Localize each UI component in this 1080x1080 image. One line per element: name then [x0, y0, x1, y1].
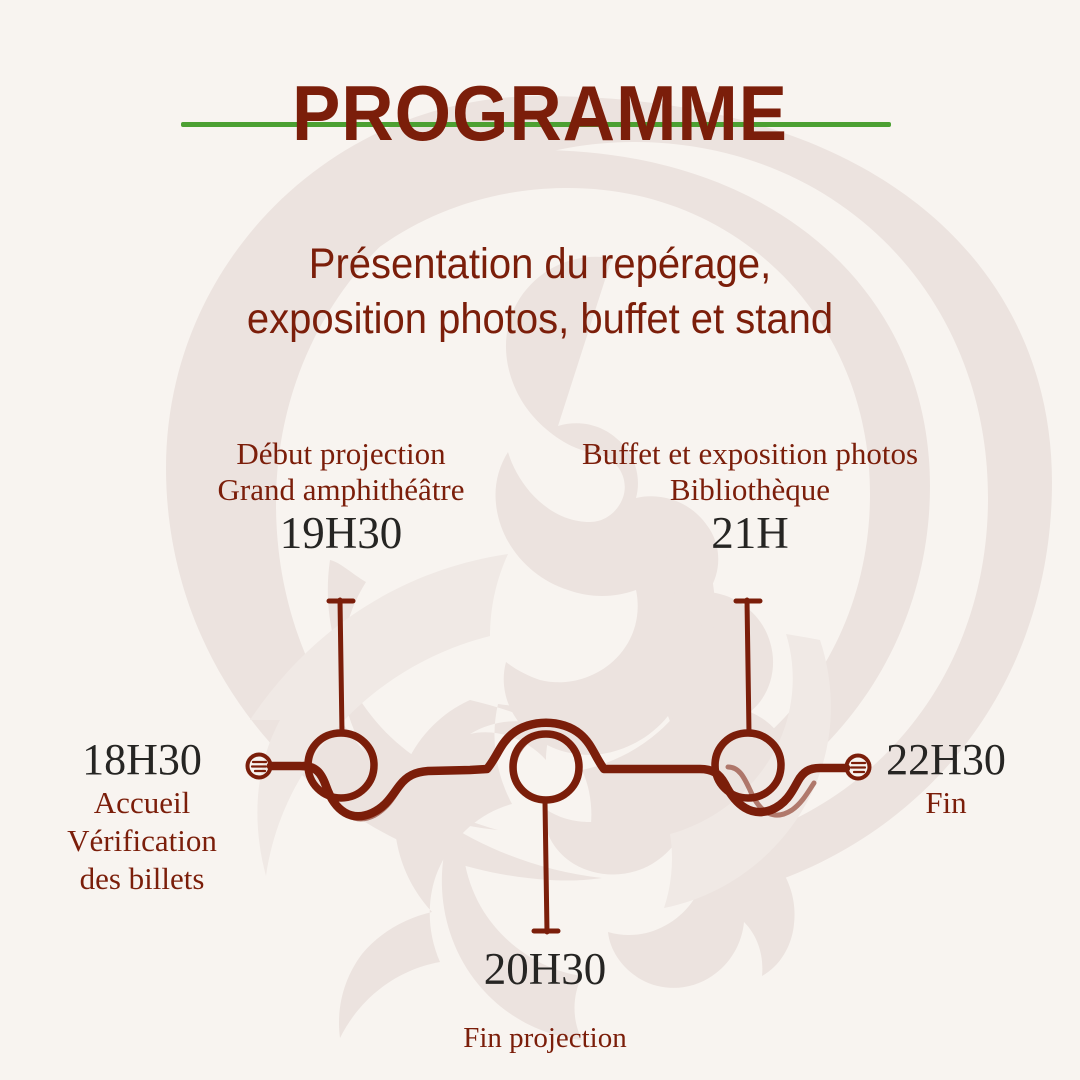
stop-22h30-desc-line-1: Fin — [838, 784, 1054, 822]
timeline-node-2 — [513, 734, 579, 800]
timeline-node-3 — [715, 733, 781, 798]
timeline-stop-22h30: 22H30 Fin — [838, 735, 1054, 822]
stop-18h30-time: 18H30 — [34, 735, 250, 784]
timeline-node-1 — [308, 733, 374, 798]
page-title: PROGRAMME — [38, 74, 1042, 152]
timeline-stem-19h30 — [329, 600, 353, 733]
timeline-stem-20h30 — [534, 802, 558, 932]
subtitle-line-1: Présentation du repérage, — [38, 237, 1042, 292]
stop-18h30-desc-line-1: Accueil — [34, 784, 250, 822]
poster-header: PROGRAMME — [0, 74, 1080, 152]
programme-poster: PROGRAMME Présentation du repérage, expo… — [0, 0, 1080, 1080]
stop-19h30-desc-line-2: Grand amphithéâtre — [141, 472, 541, 508]
stop-18h30-desc-line-2: Vérification — [34, 822, 250, 860]
poster-subtitle: Présentation du repérage, exposition pho… — [38, 237, 1042, 347]
timeline-stem-21h — [736, 600, 760, 733]
timeline-start-node-icon — [248, 755, 271, 778]
timeline-stop-21h: Buffet et exposition photos Bibliothèque… — [545, 436, 955, 558]
stop-20h30-desc-line-1: Fin projection — [395, 1022, 695, 1056]
stop-19h30-time: 19H30 — [141, 508, 541, 558]
stop-21h-time: 21H — [545, 508, 955, 558]
timeline-stop-20h30: 20H30 Fin projection — [395, 944, 695, 1056]
stop-18h30-desc-line-3: des billets — [34, 860, 250, 898]
stop-21h-desc-line-1: Buffet et exposition photos — [545, 436, 955, 472]
timeline-stop-18h30: 18H30 Accueil Vérification des billets — [34, 735, 250, 898]
timeline-stop-19h30: Début projection Grand amphithéâtre 19H3… — [141, 436, 541, 558]
stop-19h30-desc-line-1: Début projection — [141, 436, 541, 472]
stop-22h30-time: 22H30 — [838, 735, 1054, 784]
stop-20h30-time: 20H30 — [395, 944, 695, 994]
stop-21h-desc-line-2: Bibliothèque — [545, 472, 955, 508]
subtitle-line-2: exposition photos, buffet et stand — [38, 292, 1042, 347]
